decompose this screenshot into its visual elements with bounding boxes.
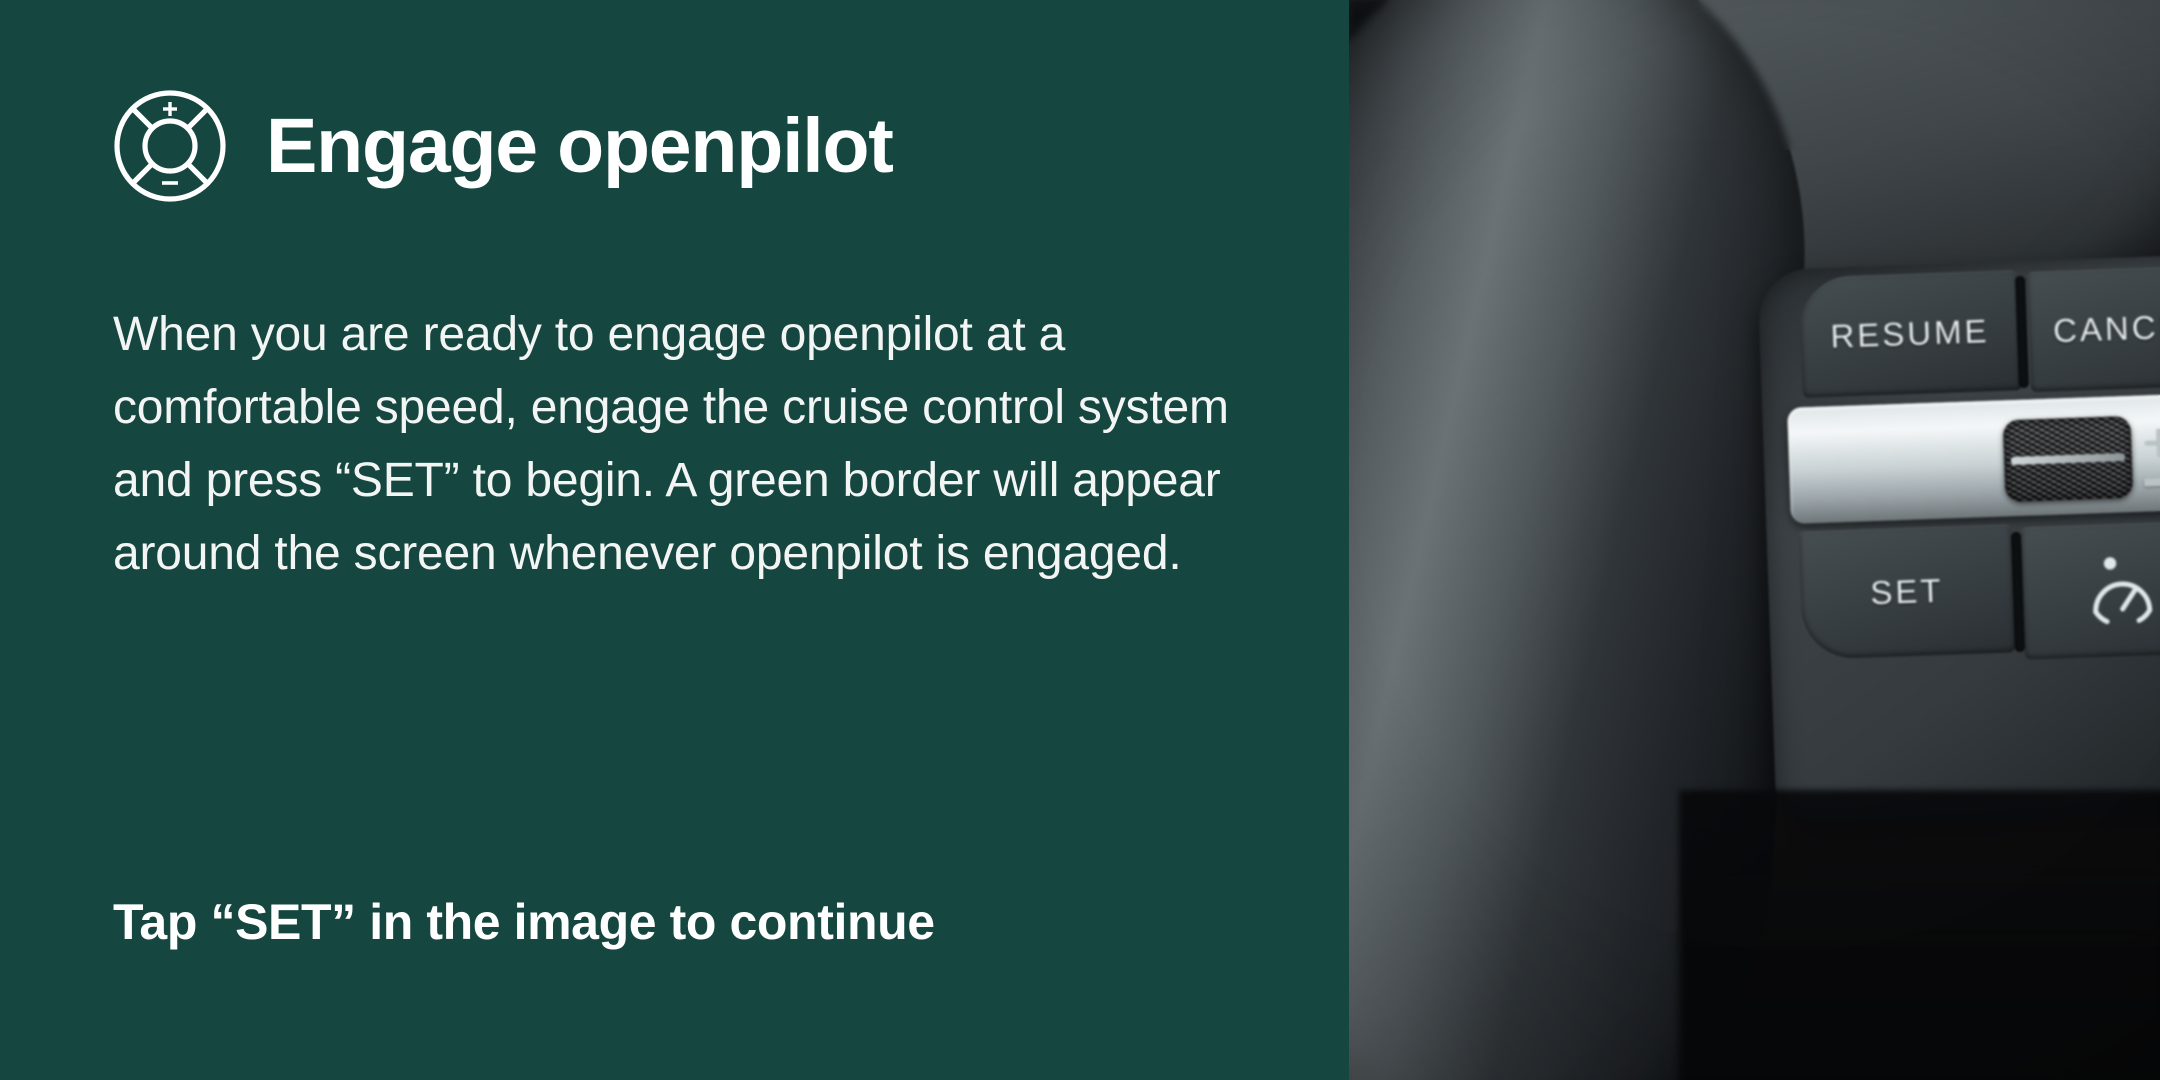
panel-header: Engage openpilot — [112, 88, 893, 204]
follow-distance-icon — [2079, 546, 2160, 635]
instruction-body: When you are ready to engage openpilot a… — [113, 298, 1293, 590]
page-title: Engage openpilot — [266, 108, 893, 185]
onboarding-screen: Engage openpilot When you are ready to e… — [0, 0, 2160, 1080]
steering-wheel-photo[interactable]: RESUME CANCEL SET — [1349, 0, 2160, 1080]
follow-distance-button[interactable] — [2021, 521, 2160, 660]
cancel-button[interactable]: CANCEL — [2027, 264, 2160, 392]
photo-bottom-blur — [1349, 930, 2160, 1080]
set-button[interactable]: SET — [1799, 524, 2015, 659]
instruction-panel: Engage openpilot When you are ready to e… — [0, 0, 1349, 1080]
rocker-plus-icon — [2143, 427, 2160, 458]
rocker-minus-icon — [2144, 477, 2160, 486]
photo-top-blur — [1349, 0, 2160, 150]
cta-instruction: Tap “SET” in the image to continue — [113, 893, 935, 951]
cruise-control-icon — [112, 88, 228, 204]
resume-button[interactable]: RESUME — [1799, 270, 2021, 398]
